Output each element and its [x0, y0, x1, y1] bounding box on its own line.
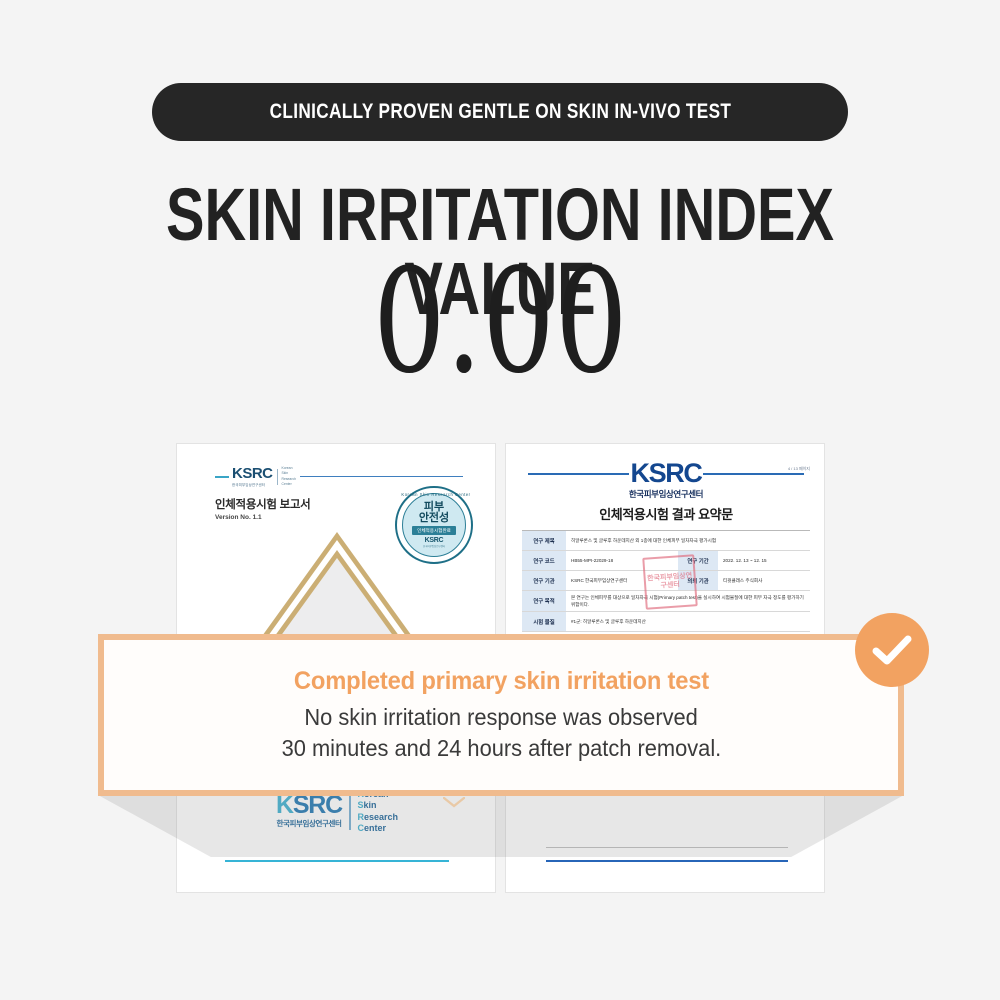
right-header-rule-left	[528, 473, 629, 475]
index-value: 0.00	[0, 262, 1000, 380]
footer-brand-kr: 한국피부임상연구센터	[276, 818, 342, 829]
right-doc-page-tag: 4 / 13 페이지	[788, 466, 810, 472]
left-doc-header-words: Korean Skin Research Center	[282, 466, 297, 486]
row-label: 시험 물질	[522, 612, 566, 631]
right-doc-brand: KSRC	[629, 460, 704, 487]
header-rule	[300, 476, 463, 477]
header-dash-icon	[215, 476, 229, 478]
left-doc-version: Version No. 1.1	[215, 514, 262, 521]
right-header-rule-right	[703, 473, 804, 475]
callout-line-2: 30 minutes and 24 hours after patch remo…	[281, 733, 721, 764]
right-doc-header: KSRC 한국피부임상연구센터 4 / 13 페이지	[506, 460, 825, 500]
right-doc-footer-rule	[546, 860, 788, 863]
seal-main-line2: 안전성	[419, 513, 449, 524]
brand-divider	[277, 469, 278, 485]
footer-word-research: Research	[358, 812, 399, 823]
row-label: 연구 코드	[522, 551, 566, 570]
row-label: 연구 기관	[522, 571, 566, 590]
chevron-down-icon	[443, 797, 465, 808]
right-doc-title: 인체적용시험 결과 요약문	[506, 504, 825, 523]
row-label: 연구 제목	[522, 531, 566, 550]
table-row: 시험 물질 #1군: 히알루론스 및 글루후 하운데지산	[522, 612, 810, 632]
left-doc-title: 인체적용시험 보고서	[215, 496, 310, 512]
left-doc-brand-sub: 한국피부임상연구센터	[232, 482, 273, 487]
check-badge	[855, 613, 929, 687]
right-doc-footer-rule-gray	[546, 847, 788, 848]
top-badge-label: CLINICALLY PROVEN GENTLE ON SKIN IN-VIVO…	[269, 100, 731, 124]
check-icon	[872, 634, 912, 666]
approval-stamp: 한국피부임상연구센터	[642, 554, 698, 610]
row-value: #1군: 히알루론스 및 글루후 하운데지산	[566, 612, 810, 631]
callout-title: Completed primary skin irritation test	[293, 667, 708, 696]
top-badge-pill: CLINICALLY PROVEN GENTLE ON SKIN IN-VIVO…	[152, 83, 848, 141]
left-doc-brand: KSRC	[232, 466, 273, 481]
result-callout: Completed primary skin irritation test N…	[98, 634, 904, 796]
left-doc-header: KSRC 한국피부임상연구센터 Korean Skin Research Cen…	[215, 466, 463, 487]
right-doc-brand-sub: 한국피부임상연구센터	[506, 488, 825, 500]
row-value-2: 티웟클래스 주식회사	[718, 571, 810, 590]
index-value-text: 0.00	[373, 249, 628, 393]
table-row: 연구 제목 히알루론스 및 글루후 하운데지산 외 1종에 대한 인체피부 일차…	[522, 531, 810, 551]
row-value: 히알루론스 및 글루후 하운데지산 외 1종에 대한 인체피부 일차자극 평가시…	[566, 531, 810, 550]
footer-word-center: Center	[358, 823, 399, 834]
row-value-2: 2022. 12. 13 ~ 12. 15	[718, 551, 810, 570]
footer-divider	[349, 794, 351, 830]
header-word-center: Center	[282, 482, 297, 487]
callout-line-1: No skin irritation response was observed	[304, 702, 697, 733]
row-label: 연구 목적	[522, 591, 566, 611]
poster-canvas: CLINICALLY PROVEN GENTLE ON SKIN IN-VIVO…	[0, 0, 1000, 1000]
footer-brand: KSRC	[276, 794, 342, 818]
seal-arc-text: Korean Skin Research Center	[397, 492, 475, 497]
left-doc-footer-rule	[225, 860, 449, 862]
footer-word-skin: Skin	[358, 800, 399, 811]
